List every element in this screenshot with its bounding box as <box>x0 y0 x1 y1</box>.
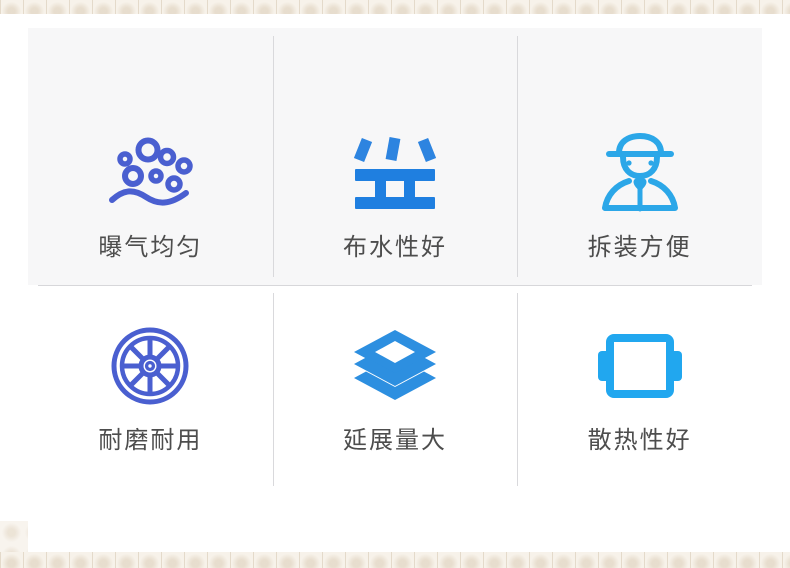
feature-cell-extensibility[interactable]: 延展量大 <box>273 285 518 494</box>
feature-label: 拆装方便 <box>588 235 692 259</box>
feature-label: 曝气均匀 <box>98 235 202 259</box>
feature-card: 曝气均匀 <box>28 28 762 494</box>
feature-cell-aeration[interactable]: 曝气均匀 <box>28 28 273 285</box>
feature-label: 散热性好 <box>588 428 692 452</box>
stacked-layers-icon <box>347 318 443 414</box>
wheel-icon <box>102 318 198 414</box>
worker-wrench-icon <box>592 125 688 221</box>
feature-cell-wear-resistant[interactable]: 耐磨耐用 <box>28 285 273 494</box>
rain-distribution-icon <box>347 125 443 221</box>
feature-cell-water-distribution[interactable]: 布水性好 <box>273 28 518 285</box>
feature-grid-page: 曝气均匀 <box>0 0 790 568</box>
feature-cell-heat-dissipation[interactable]: 散热性好 <box>517 285 762 494</box>
feature-cell-easy-assembly[interactable]: 拆装方便 <box>517 28 762 285</box>
feature-label: 布水性好 <box>343 235 447 259</box>
feature-label: 耐磨耐用 <box>98 428 202 452</box>
radiator-heat-icon <box>592 318 688 414</box>
feature-label: 延展量大 <box>343 428 447 452</box>
bubbles-wave-icon <box>102 125 198 221</box>
feature-grid: 曝气均匀 <box>28 28 762 494</box>
bottom-texture-strip <box>0 552 790 568</box>
bottom-left-texture-nub <box>0 521 28 552</box>
top-texture-strip <box>0 0 790 14</box>
